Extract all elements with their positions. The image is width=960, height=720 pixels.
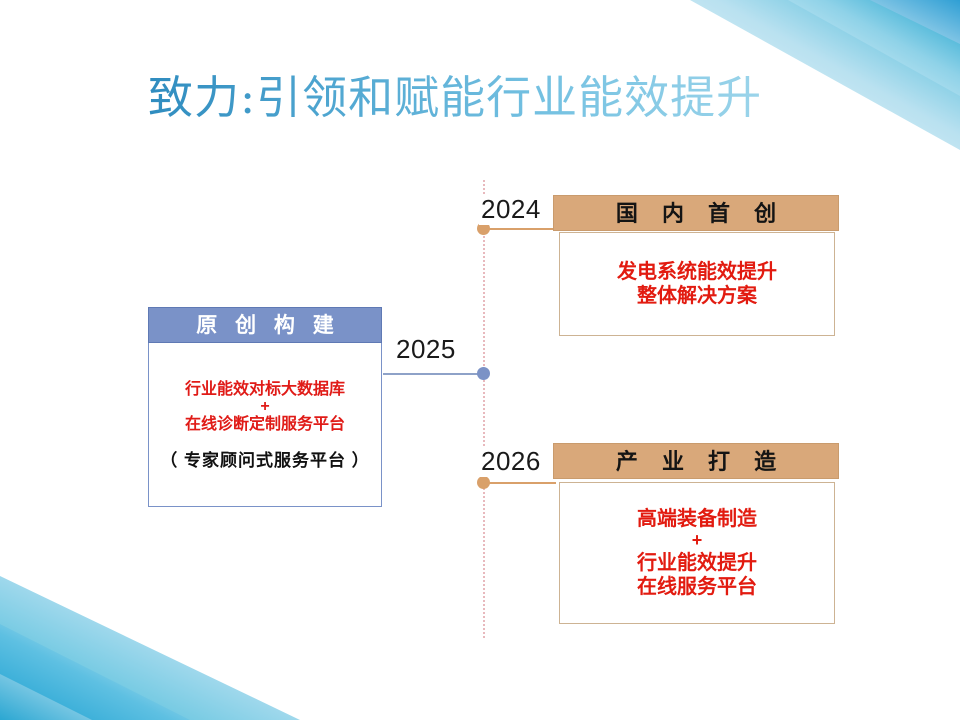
origin-line-1: 行业能效对标大数据库 [185,380,345,400]
origin-line-2: 在线诊断定制服务平台 [185,415,345,435]
industry-build-line-3: 在线服务平台 [637,575,757,599]
industry-build-line-1: 高端装备制造 [637,507,757,531]
origin-plus-sign: + [260,399,269,415]
connector-line-2025 [383,373,484,375]
industry-build-plus-sign: + [692,531,703,551]
year-label-2024: 2024 [479,194,543,225]
slide-title: 致力:引领和赋能行业能效提升 [148,72,762,124]
card-industry-build: 产 业 打 造 高端装备制造 + 行业能效提升 在线服务平台 [553,443,839,624]
timeline-axis [483,180,485,638]
slide-canvas: 致力:引领和赋能行业能效提升 2024 2025 2026 原 创 构 建 行业… [0,0,960,720]
card-industry-build-header: 产 业 打 造 [553,443,839,479]
card-first-in-country-body: 发电系统能效提升 整体解决方案 [559,232,835,336]
industry-build-line-2: 行业能效提升 [637,551,757,575]
card-industry-build-body: 高端装备制造 + 行业能效提升 在线服务平台 [559,482,835,624]
timeline-dot-2026 [477,476,490,489]
card-first-in-country: 国 内 首 创 发电系统能效提升 整体解决方案 [553,195,839,336]
first-in-country-line-1: 发电系统能效提升 [617,260,777,284]
year-label-2025: 2025 [394,334,458,365]
origin-subtitle: （ 专家顾问式服务平台 ） [160,451,369,472]
card-original-construction-header: 原 创 构 建 [148,307,382,343]
year-label-2026: 2026 [479,446,543,477]
first-in-country-line-2: 整体解决方案 [637,284,757,308]
connector-line-2026 [484,482,556,484]
card-first-in-country-header: 国 内 首 创 [553,195,839,231]
card-original-construction-body: 行业能效对标大数据库 + 在线诊断定制服务平台 （ 专家顾问式服务平台 ） [148,343,382,507]
connector-line-2024 [484,228,556,230]
card-original-construction: 原 创 构 建 行业能效对标大数据库 + 在线诊断定制服务平台 （ 专家顾问式服… [148,307,382,507]
decorative-ribbon-bottom-left [0,570,420,720]
timeline-dot-2025 [477,367,490,380]
